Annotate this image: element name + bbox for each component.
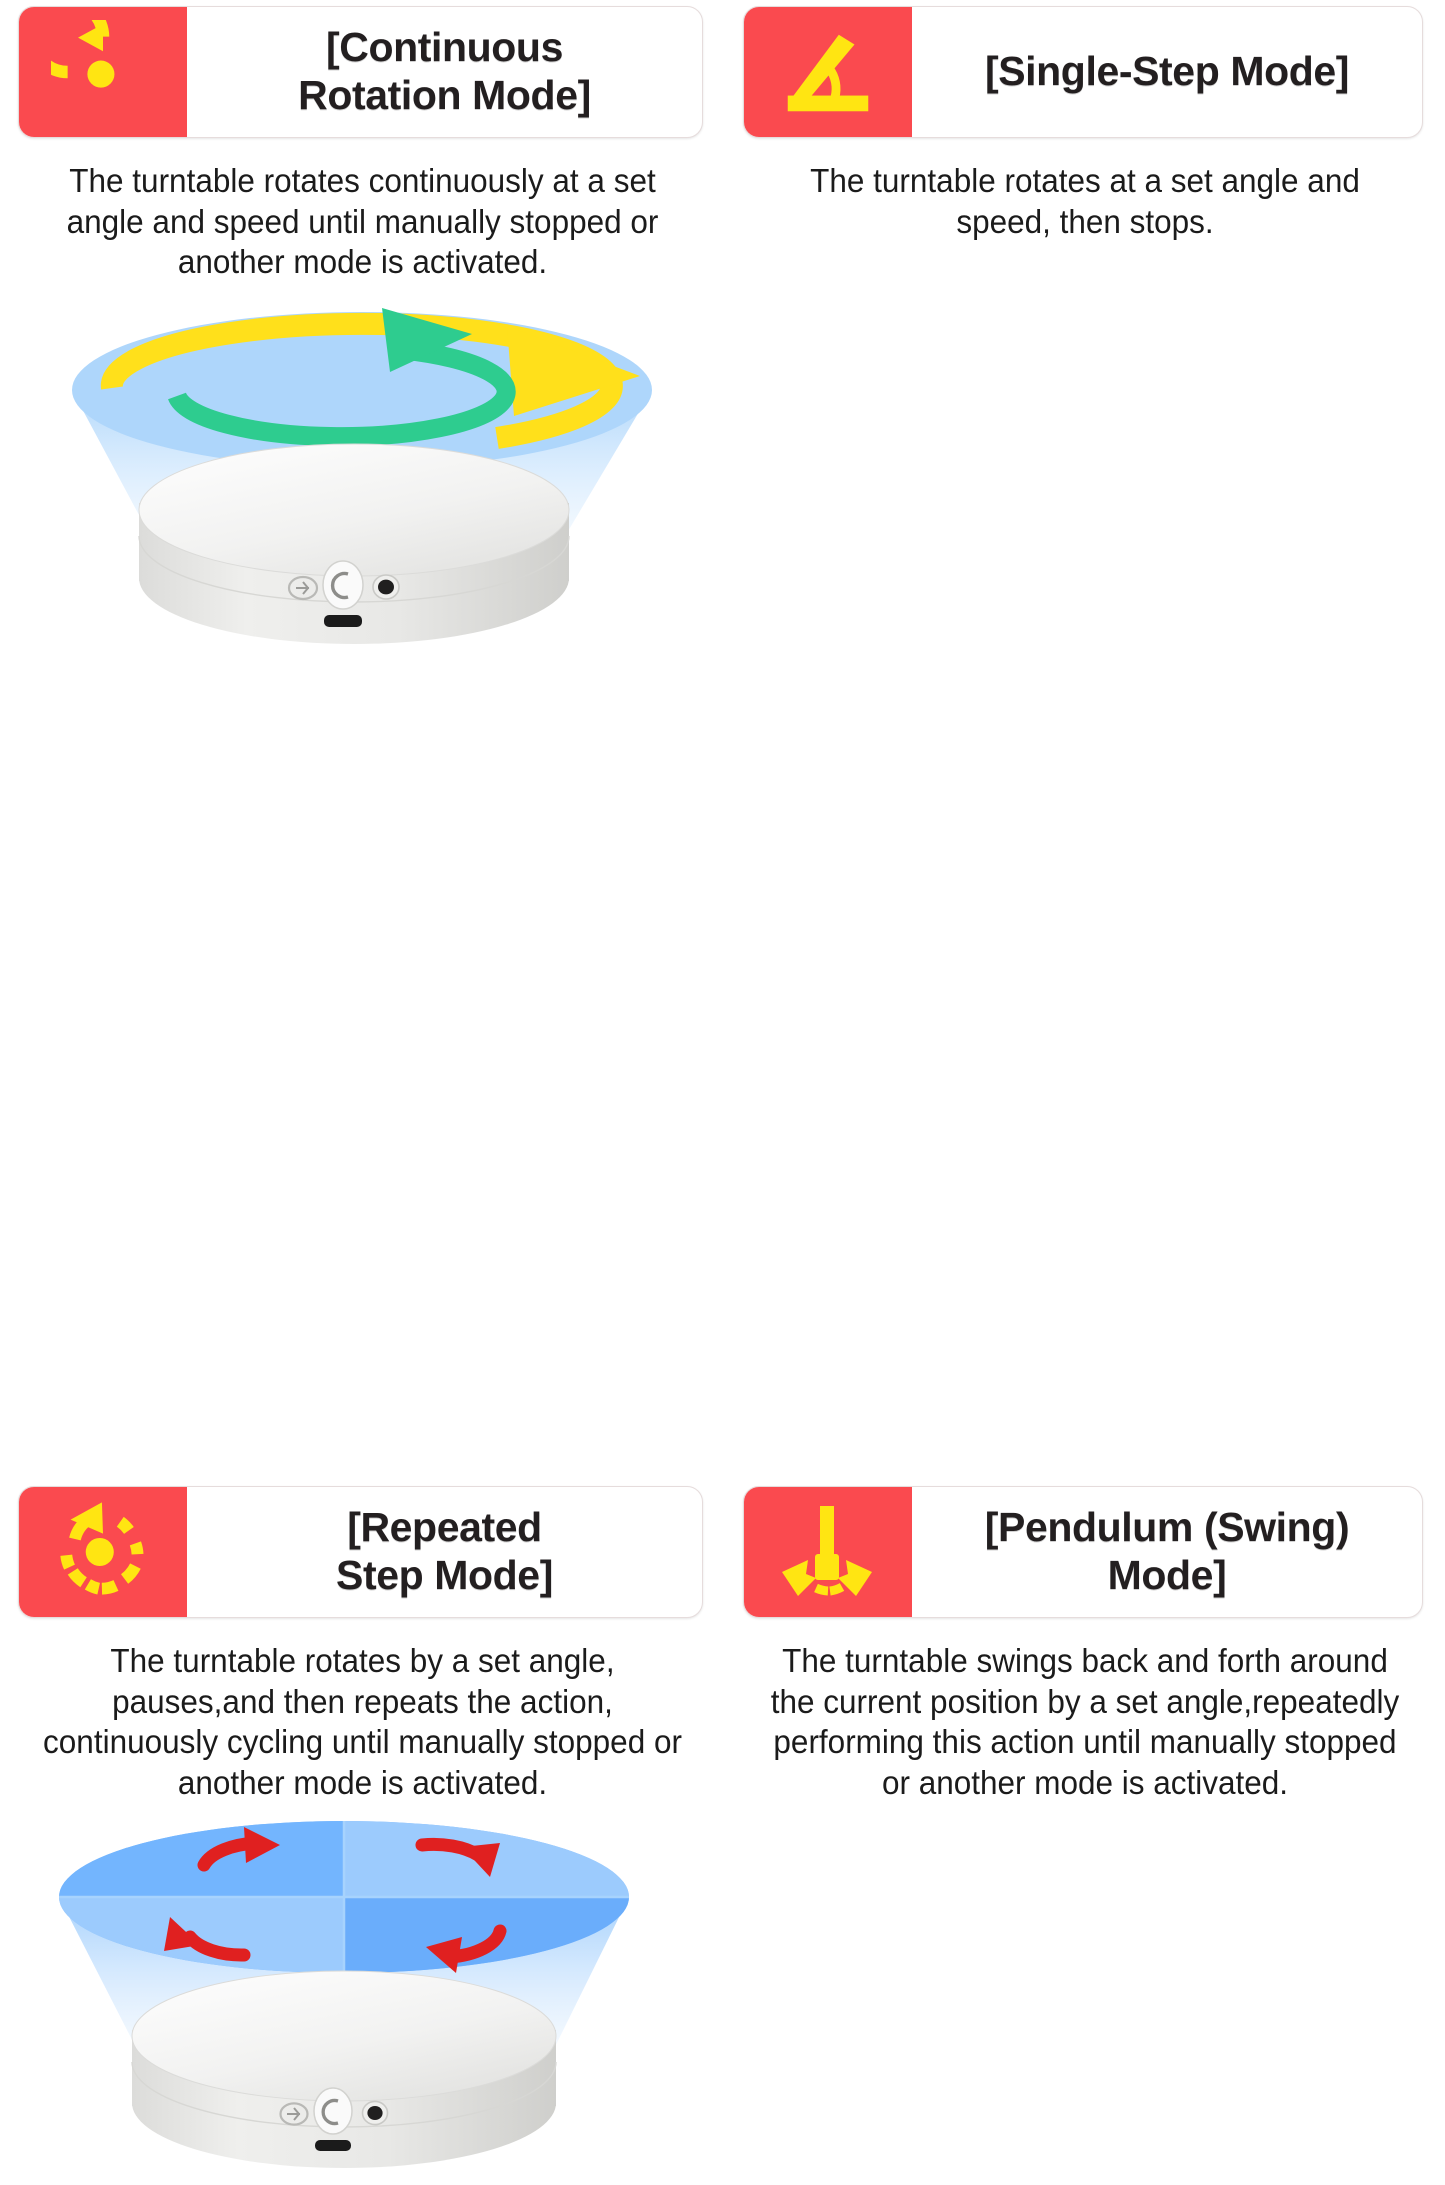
panel-description: The turntable rotates continuously at a … [31,162,694,284]
panel-pendulum-swing: [Pendulum (Swing)Mode] The turntable swi… [725,740,1445,1427]
panel-description: The turntable rotates at a set angle and… [784,162,1386,243]
turntable-continuous-rotation-diagram [52,288,672,663]
header-title-cell: [Single-Step Mode] [912,7,1422,137]
circular-arrow-icon [51,20,155,124]
panel-title: [Single-Step Mode] [985,48,1349,96]
panel-single-step: [Single-Step Mode] The turntable rotates… [725,0,1445,740]
speed-knob[interactable] [323,561,363,609]
header-continuous-rotation: [ContinuousRotation Mode] [18,6,703,138]
header-icon-cell [744,7,912,137]
panel-repeated-step: [RepeatedStep Mode] The turntable rotate… [0,740,725,1427]
header-single-step: [Single-Step Mode] [743,6,1423,138]
header-repeated-step: [RepeatedStep Mode] [18,1486,703,1618]
panel-continuous-rotation: [ContinuousRotation Mode] The turntable … [0,0,725,740]
header-title-cell: [RepeatedStep Mode] [187,1487,702,1617]
header-icon-cell [744,1487,912,1617]
speed-knob[interactable] [314,2088,352,2134]
mode-panels-grid: [ContinuousRotation Mode] The turntable … [0,0,1445,1427]
usb-slot [315,2140,351,2151]
dashed-circle-arrow-icon [49,1498,157,1606]
panel-title: [RepeatedStep Mode] [336,1504,553,1599]
angle-measure-icon [774,22,882,122]
header-pendulum-swing: [Pendulum (Swing)Mode] [743,1486,1423,1618]
header-icon-cell [19,1487,187,1617]
header-title-cell: [Pendulum (Swing)Mode] [912,1487,1422,1617]
header-icon-cell [19,7,187,137]
turntable-repeated-step-diagram [44,1815,674,2185]
usb-slot [324,615,362,627]
panel-title: [Pendulum (Swing)Mode] [985,1504,1349,1599]
panel-description: The turntable swings back and forth arou… [756,1642,1414,1804]
panel-description: The turntable rotates by a set angle, pa… [39,1642,687,1804]
panel-title: [ContinuousRotation Mode] [298,24,591,119]
header-title-cell: [ContinuousRotation Mode] [187,7,702,137]
pendulum-swing-icon [772,1500,884,1604]
